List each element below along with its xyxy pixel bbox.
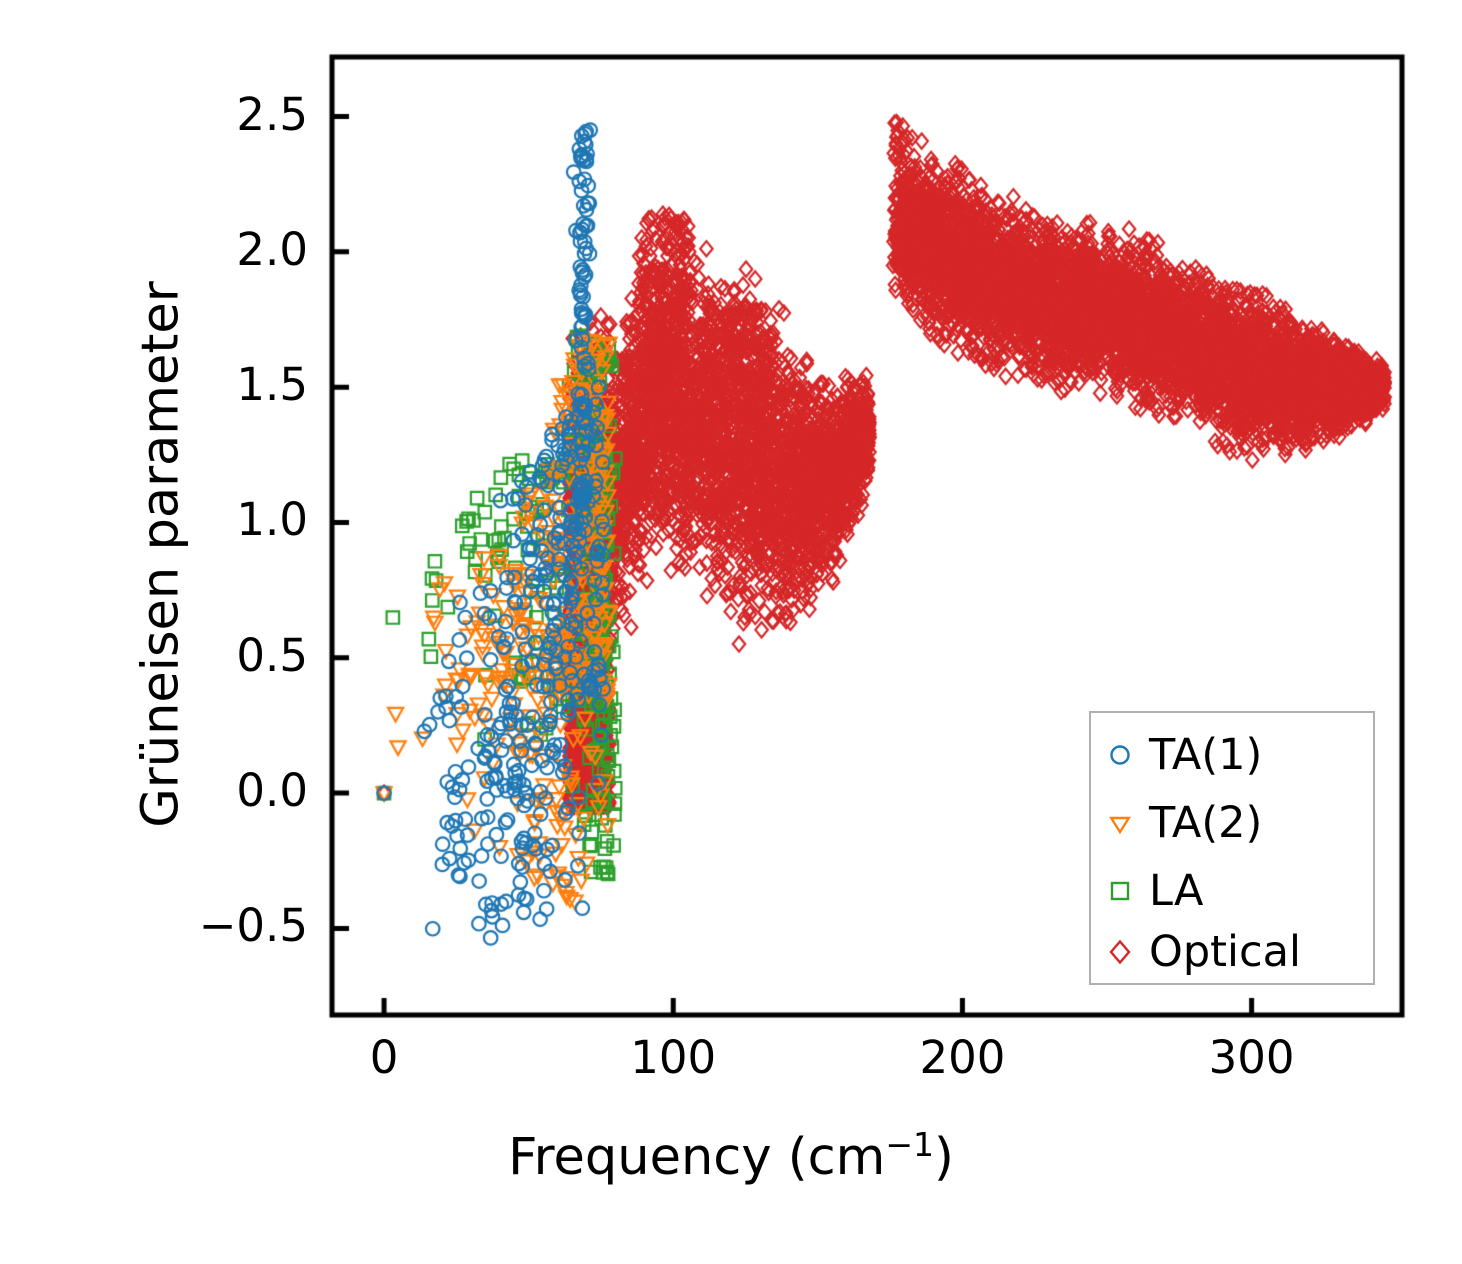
circle-marker-icon <box>1091 742 1149 768</box>
legend-entry-la[interactable]: LA <box>1091 857 1373 925</box>
figure-root: 2.5 2.0 1.5 1.0 0.5 0.0 −0.5 0 100 200 3… <box>0 0 1462 1264</box>
xtick-label-0: 0 <box>274 1031 494 1084</box>
xtick-label-100: 100 <box>563 1031 783 1084</box>
legend-entry-ta1[interactable]: TA(1) <box>1091 721 1373 789</box>
legend-label-ta2: TA(2) <box>1149 798 1262 848</box>
xtick-label-300: 300 <box>1142 1031 1362 1084</box>
legend: TA(1) TA(2) LA Optical <box>1089 711 1375 985</box>
diamond-marker-icon <box>1091 938 1149 966</box>
x-axis-label-base: Frequency (cm <box>508 1128 885 1187</box>
triangle-down-marker-icon <box>1091 810 1149 836</box>
x-axis-label: Frequency (cm−1) <box>0 1128 1462 1187</box>
legend-entry-ta2[interactable]: TA(2) <box>1091 789 1373 857</box>
xtick-label-200: 200 <box>852 1031 1072 1084</box>
legend-entry-optical[interactable]: Optical <box>1091 918 1373 986</box>
legend-label-optical: Optical <box>1149 927 1301 977</box>
y-axis-label: Grüneisen parameter <box>132 75 191 1035</box>
x-axis-label-close: ) <box>934 1128 954 1187</box>
x-axis-label-exponent: −1 <box>885 1125 934 1164</box>
legend-label-la: LA <box>1149 866 1203 916</box>
square-marker-icon <box>1091 878 1149 904</box>
legend-label-ta1: TA(1) <box>1149 730 1262 780</box>
